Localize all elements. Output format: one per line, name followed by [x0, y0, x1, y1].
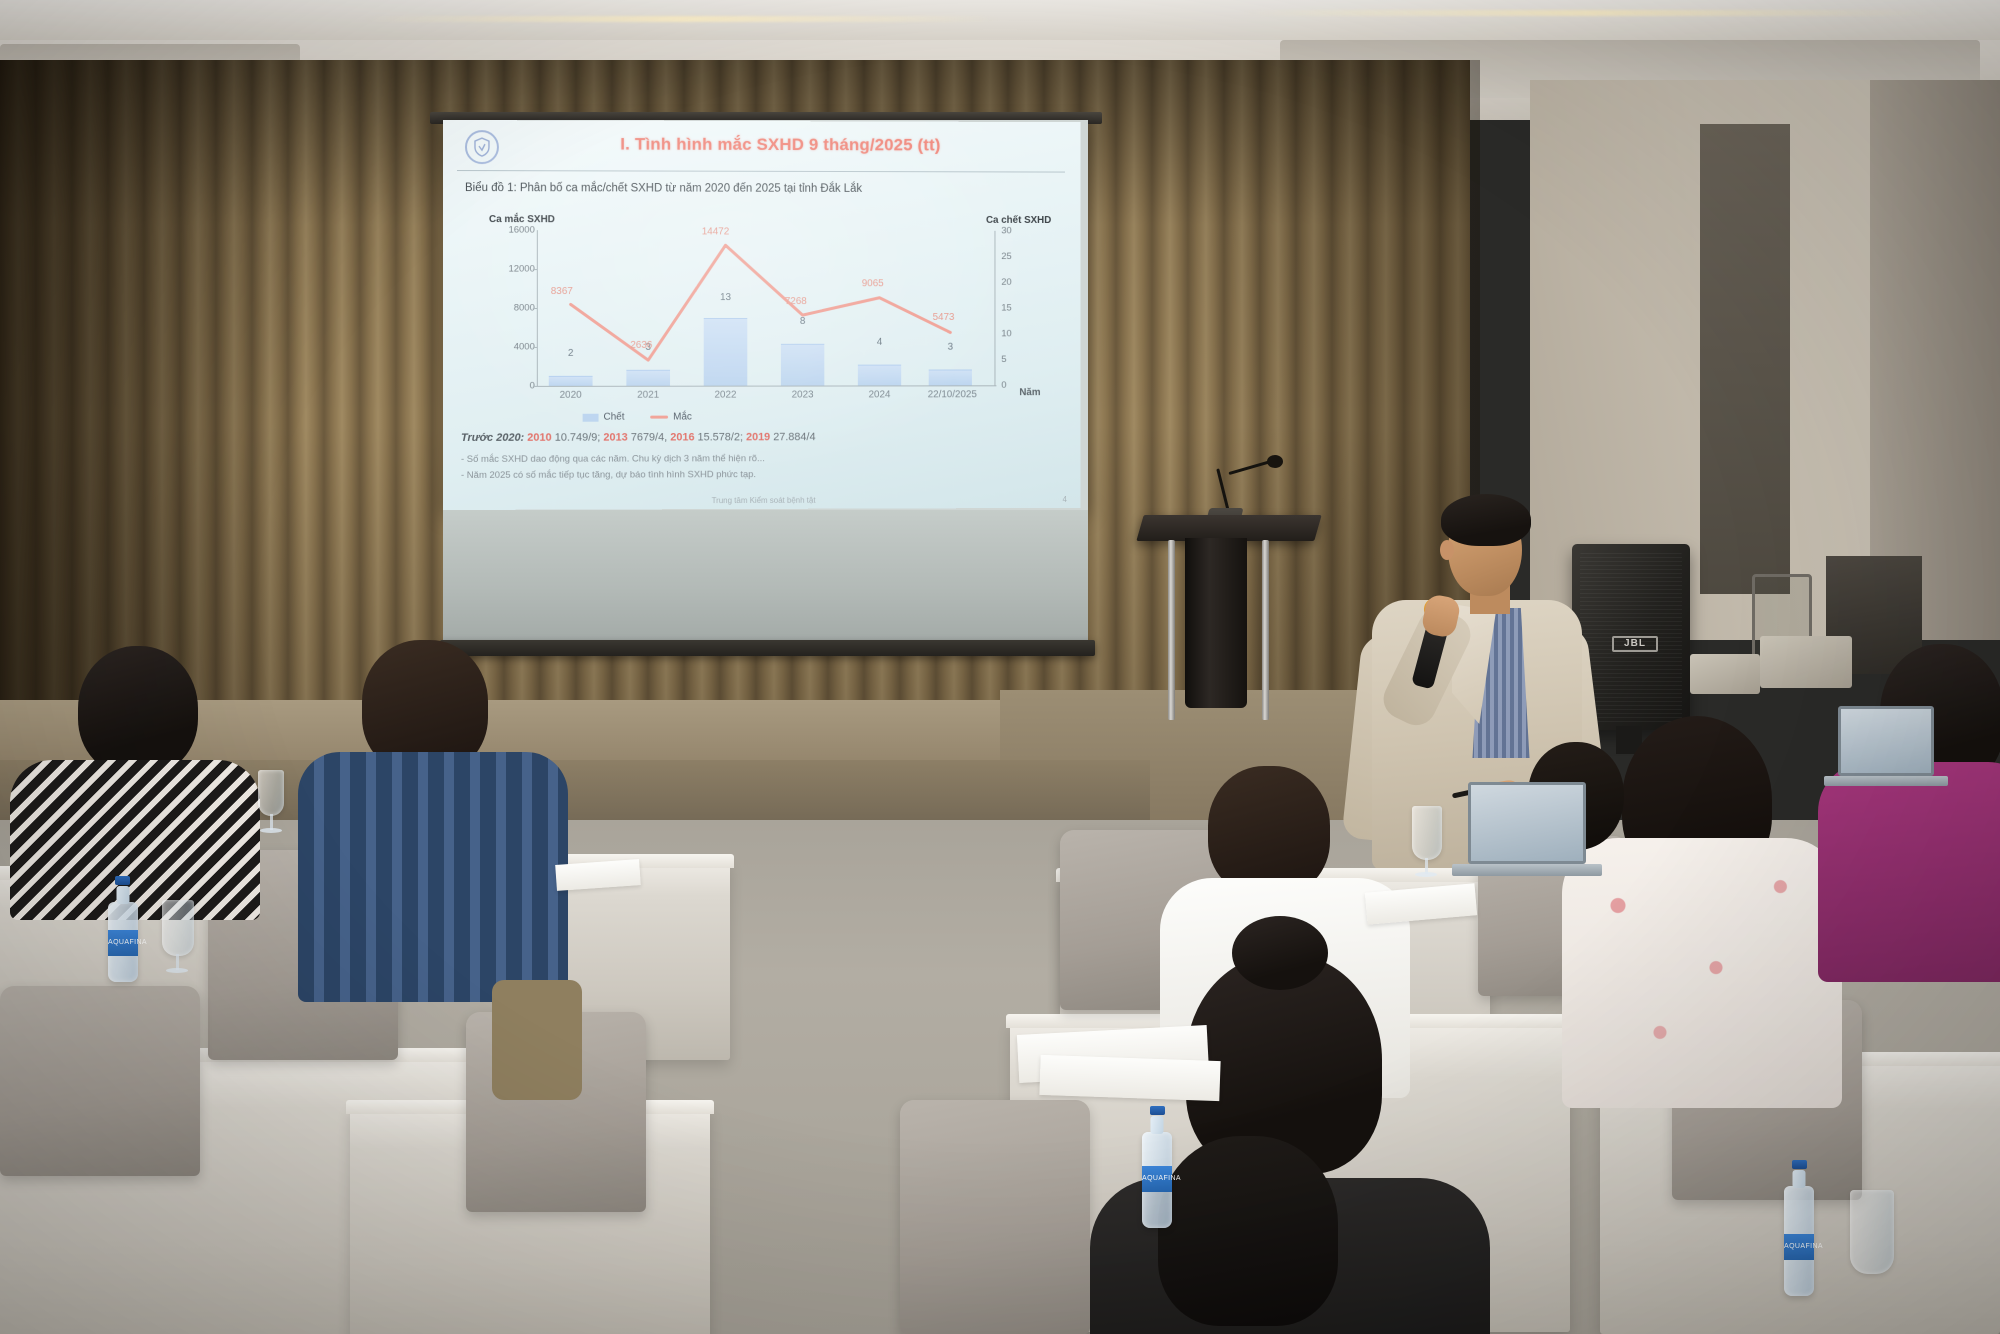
drinking-glass [1850, 1190, 1894, 1274]
slide-title: I. Tình hình mắc SXHD 9 tháng/2025 (tt) [503, 134, 1056, 156]
chart-y2-axis-label: Ca chết SXHD [986, 215, 1051, 226]
legend-item-chet: Chết [583, 412, 625, 423]
podium-leg [1168, 540, 1175, 720]
laptop-base [1824, 776, 1948, 786]
attendee-head [1158, 1136, 1338, 1326]
bottle-label: AQUAFINA [1784, 1234, 1814, 1260]
chart-x-axis-label: Năm [1019, 387, 1040, 398]
note-value: 15.578/2; [698, 431, 743, 443]
chart-y-axis-label: Ca mắc SXHD [489, 214, 555, 225]
attendee-hair-bun [1232, 916, 1328, 990]
speaker-ear [1440, 540, 1454, 560]
chart-xtick: 2021 [618, 390, 678, 401]
health-department-seal-icon [465, 130, 499, 164]
water-bottle: AQUAFINA [108, 902, 138, 982]
slide-bullet: - Số mắc SXHD dao động qua các năm. Chu … [461, 453, 765, 465]
speaker-hair [1441, 494, 1531, 546]
chart-point-value: 9065 [862, 278, 884, 289]
slide-bullet: - Năm 2025 có số mắc tiếp tục tăng, dự b… [461, 469, 756, 481]
chart-point-value: 14472 [702, 226, 730, 237]
wall-recess-right [1700, 124, 1790, 594]
note-value: 27.884/4 [773, 431, 815, 443]
chart-plot-area: 16000 12000 8000 4000 0 30 25 20 15 10 5… [471, 230, 1054, 410]
slide-note-line: Trước 2020: 2010 10.749/9; 2013 7679/4, … [461, 431, 816, 444]
screen-blank-area [443, 510, 1088, 640]
bottle-label: AQUAFINA [1142, 1166, 1172, 1192]
legend-label: Mắc [673, 412, 692, 423]
attendee-torso [1818, 762, 2000, 982]
chart-point-value: 5473 [933, 312, 955, 323]
note-prefix: Trước 2020: [461, 432, 524, 444]
laptop-base [1452, 864, 1602, 876]
attendee-torso [298, 752, 568, 1002]
chart-line-series [471, 230, 1054, 410]
chart-xtick: 2024 [850, 389, 909, 400]
pa-speaker-brand-label: JBL [1612, 636, 1658, 652]
bottle-cap [1792, 1160, 1807, 1169]
drinking-glass [162, 900, 194, 956]
bottle-label: AQUAFINA [108, 930, 138, 956]
chart-point-value: 7268 [785, 296, 807, 307]
projection-screen: I. Tình hình mắc SXHD 9 tháng/2025 (tt) … [443, 120, 1088, 510]
storage-box [1690, 654, 1760, 694]
glass-foot [166, 968, 188, 973]
chart-xtick: 2020 [541, 390, 601, 401]
attendee-leg [492, 980, 582, 1100]
cove-light-strip [1240, 10, 1940, 16]
note-year: 2016 [670, 431, 694, 443]
slide-page-number: 4 [1063, 495, 1067, 504]
handout-paper [1039, 1055, 1220, 1101]
attendee-torso [1562, 838, 1842, 1108]
slide-subtitle: Biểu đồ 1: Phân bố ca mắc/chết SXHD từ n… [465, 182, 862, 195]
water-bottle: AQUAFINA [1142, 1132, 1172, 1228]
attendee-head [1208, 766, 1330, 896]
bottle-cap [1150, 1106, 1165, 1115]
microphone-head-icon [1267, 455, 1283, 468]
slide-title-divider [457, 170, 1065, 173]
chart-point-value: 2636 [630, 340, 652, 351]
glass-foot [260, 828, 282, 833]
podium-leg [1262, 540, 1269, 720]
storage-box [1760, 636, 1852, 688]
note-year: 2010 [527, 432, 551, 444]
chart-xtick: 2022 [696, 390, 755, 401]
legend-swatch-line-icon [650, 416, 668, 419]
attendee-chair [0, 986, 200, 1176]
legend-item-mac: Mắc [650, 412, 692, 423]
attendee-head [78, 646, 198, 776]
chart-legend: Chết Mắc [583, 412, 692, 423]
drinking-glass [1412, 806, 1442, 860]
screen-weight-bar [440, 640, 1095, 656]
legend-label: Chết [604, 412, 625, 423]
laptop-screen [1838, 706, 1934, 776]
laptop-screen [1468, 782, 1586, 864]
note-value: 10.749/9; [555, 432, 601, 444]
note-year: 2013 [603, 432, 627, 444]
curtain-shadow-left [0, 60, 300, 720]
attendee-chair [900, 1100, 1090, 1334]
chart-xtick: 22/10/2025 [915, 389, 990, 400]
water-bottle: AQUAFINA [1784, 1186, 1814, 1296]
note-value: 7679/4, [631, 432, 667, 444]
attendee-torso [10, 760, 260, 920]
ceiling-cove [0, 0, 2000, 40]
bottle-cap [115, 876, 130, 885]
legend-swatch-bar-icon [583, 413, 599, 421]
glass-foot [1415, 872, 1437, 877]
chart-point-value: 8367 [551, 286, 573, 297]
slide-footer: Trung tâm Kiểm soát bệnh tật [443, 495, 1081, 506]
note-year: 2019 [746, 431, 770, 443]
projected-slide: I. Tình hình mắc SXHD 9 tháng/2025 (tt) … [443, 120, 1081, 510]
cove-light-strip [360, 16, 1000, 22]
drinking-glass [258, 770, 284, 816]
podium-body [1185, 538, 1247, 708]
chart-xtick: 2023 [773, 389, 832, 400]
presentation-scene: I. Tình hình mắc SXHD 9 tháng/2025 (tt) … [0, 0, 2000, 1334]
